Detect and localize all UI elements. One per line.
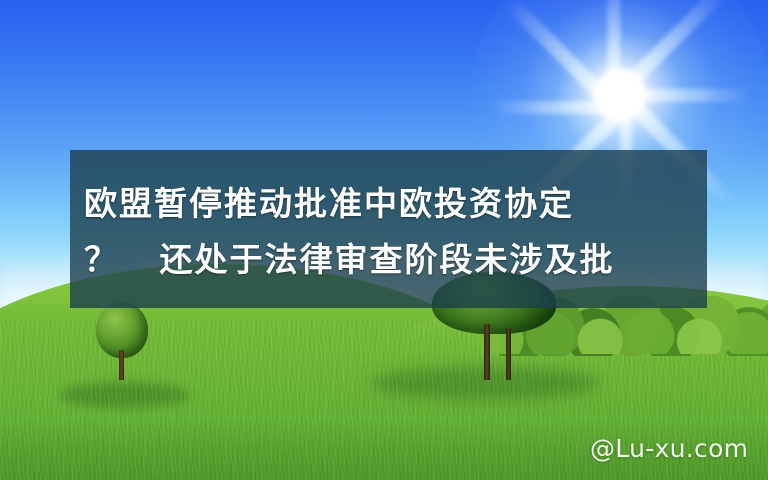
image-canvas: 欧盟暂停推动批准中欧投资协定 ？ 还处于法律审查阶段未涉及批 @Lu-xu.co… [0, 0, 768, 480]
headline-overlay-box: 欧盟暂停推动批准中欧投资协定 ？ 还处于法律审查阶段未涉及批 [70, 150, 707, 308]
headline-line-2: ？ 还处于法律审查阶段未涉及批 [70, 232, 707, 288]
watermark: @Lu-xu.com [590, 434, 748, 463]
headline-line-1: 欧盟暂停推动批准中欧投资协定 [70, 176, 707, 232]
small-round-tree [92, 302, 152, 380]
